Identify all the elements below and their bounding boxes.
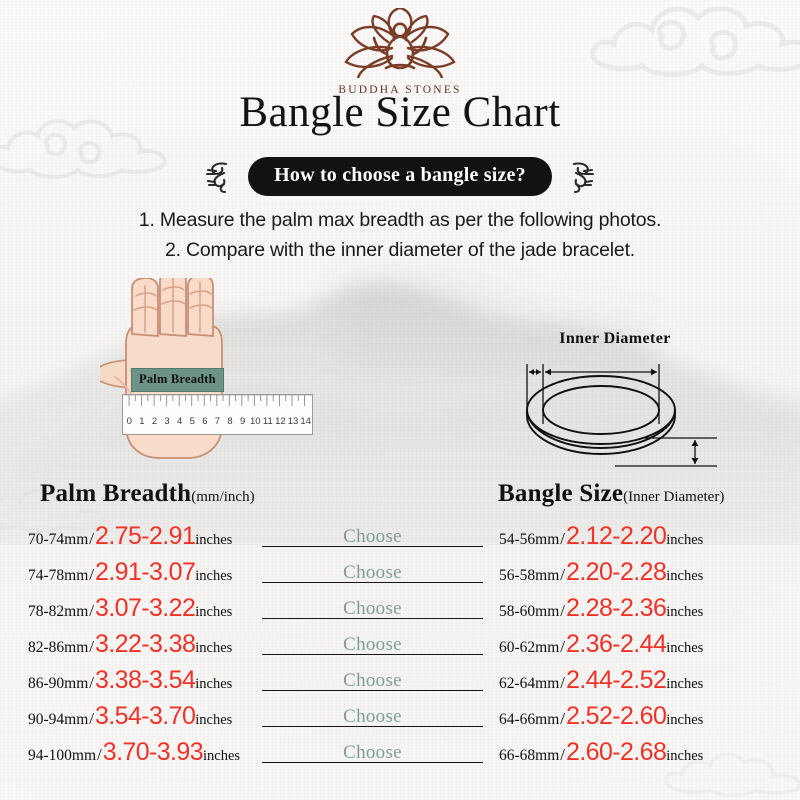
bangle-size-cell: 66-68mm/2.60-2.68inches — [495, 740, 800, 765]
table-row: 70-74mm/2.75-2.91inchesChoose54-56mm/2.1… — [0, 524, 800, 560]
choose-label[interactable]: Choose — [250, 598, 495, 620]
palm-unit-label: inches — [195, 640, 232, 657]
palm-mm-value: 86-90mm — [28, 675, 88, 693]
palm-inch-value: 3.07-3.22 — [95, 596, 195, 621]
bangle-size-cell: 56-58mm/2.20-2.28inches — [495, 560, 800, 585]
bangle-size-cell: 54-56mm/2.12-2.20inches — [495, 524, 800, 549]
bangle-size-cell: 60-62mm/2.36-2.44inches — [495, 632, 800, 657]
table-row: 82-86mm/3.22-3.38inchesChoose60-62mm/2.3… — [0, 632, 800, 668]
bangle-unit-label: inches — [666, 532, 703, 549]
palm-mm-value: 74-78mm — [28, 567, 88, 585]
table-row: 78-82mm/3.07-3.22inchesChoose58-60mm/2.2… — [0, 596, 800, 632]
bangle-size-chart-page: BUDDHA STONES Bangle Size Chart How to c… — [0, 0, 800, 800]
bangle-mm-value: 56-58mm — [499, 567, 559, 585]
ruler-number: 1 — [136, 416, 149, 427]
palm-mm-value: 82-86mm — [28, 639, 88, 657]
palm-inch-value: 3.70-3.93 — [103, 740, 203, 765]
palm-unit-label: inches — [195, 568, 232, 585]
separator-slash: / — [559, 709, 566, 729]
bangle-inch-value: 2.60-2.68 — [566, 740, 666, 765]
ruler-number: 10 — [249, 416, 262, 427]
palm-breadth-cell: 70-74mm/2.75-2.91inches — [0, 524, 250, 549]
choose-label[interactable]: Choose — [250, 706, 495, 728]
separator-slash: / — [559, 601, 566, 621]
choose-label[interactable]: Choose — [250, 526, 495, 548]
table-row: 90-94mm/3.54-3.70inchesChoose64-66mm/2.5… — [0, 704, 800, 740]
section-heading-palm-breadth: Palm Breadth(mm/inch) — [40, 480, 255, 508]
table-row: 74-78mm/2.91-3.07inchesChoose56-58mm/2.2… — [0, 560, 800, 596]
palm-breadth-cell: 78-82mm/3.07-3.22inches — [0, 596, 250, 621]
ruler-ticks-icon — [123, 395, 312, 411]
separator-slash: / — [88, 529, 95, 549]
separator-slash: / — [88, 709, 95, 729]
palm-inch-value: 2.75-2.91 — [95, 524, 195, 549]
palm-unit-label: inches — [195, 712, 232, 729]
section-heading-bangle-size: Bangle Size(Inner Diameter) — [498, 480, 724, 508]
choose-label[interactable]: Choose — [250, 562, 495, 584]
palm-inch-value: 2.91-3.07 — [95, 560, 195, 585]
palm-mm-value: 94-100mm — [28, 747, 96, 765]
separator-slash: / — [559, 637, 566, 657]
choose-label[interactable]: Choose — [250, 742, 495, 764]
subtitle-row: How to choose a bangle size? — [0, 157, 800, 196]
bangle-inch-value: 2.44-2.52 — [566, 668, 666, 693]
separator-slash: / — [96, 745, 103, 765]
separator-slash: / — [559, 529, 566, 549]
brand-logo: BUDDHA STONES — [0, 8, 800, 96]
separator-slash: / — [559, 673, 566, 693]
choose-underline — [262, 618, 483, 619]
palm-breadth-cell: 82-86mm/3.22-3.38inches — [0, 632, 250, 657]
palm-inch-value: 3.38-3.54 — [95, 668, 195, 693]
lotus-meditation-icon — [334, 8, 466, 83]
scroll-flourish-right-icon — [566, 159, 596, 195]
choose-label[interactable]: Choose — [250, 634, 495, 656]
inner-diameter-label: Inner Diameter — [505, 330, 725, 348]
bangle-mm-value: 64-66mm — [499, 711, 559, 729]
palm-inch-value: 3.54-3.70 — [95, 704, 195, 729]
palm-unit-label: inches — [195, 676, 232, 693]
bangle-inch-value: 2.52-2.60 — [566, 704, 666, 729]
bangle-unit-label: inches — [666, 712, 703, 729]
palm-unit-label: inches — [195, 532, 232, 549]
ruler-number: 14 — [299, 416, 312, 427]
separator-slash: / — [88, 601, 95, 621]
ruler-number: 7 — [211, 416, 224, 427]
section-title-bangle: Bangle Size — [498, 480, 623, 507]
ruler-numbers: 0 1 2 3 4 5 6 7 8 9 10 11 12 13 14 — [123, 410, 312, 433]
bangle-inch-value: 2.20-2.28 — [566, 560, 666, 585]
ruler-number: 2 — [148, 416, 161, 427]
bangle-inch-value: 2.36-2.44 — [566, 632, 666, 657]
bangle-unit-label: inches — [666, 568, 703, 585]
palm-breadth-cell: 90-94mm/3.54-3.70inches — [0, 704, 250, 729]
table-row: 94-100mm/3.70-3.93inchesChoose66-68mm/2.… — [0, 740, 800, 776]
choose-underline — [262, 762, 483, 763]
ruler-number: 12 — [274, 416, 287, 427]
bangle-unit-label: inches — [666, 604, 703, 621]
instruction-list: 1. Measure the palm max breadth as per t… — [0, 206, 800, 265]
ruler-number: 8 — [224, 416, 237, 427]
ruler-number: 9 — [236, 416, 249, 427]
separator-slash: / — [559, 745, 566, 765]
table-row: 86-90mm/3.38-3.54inchesChoose62-64mm/2.4… — [0, 668, 800, 704]
bangle-mm-value: 60-62mm — [499, 639, 559, 657]
section-note-palm: (mm/inch) — [191, 489, 254, 505]
ruler-number: 6 — [199, 416, 212, 427]
ruler-number: 13 — [287, 416, 300, 427]
bangle-unit-label: inches — [666, 748, 703, 765]
bangle-size-cell: 62-64mm/2.44-2.52inches — [495, 668, 800, 693]
bangle-ring-icon — [505, 354, 725, 474]
ruler-number: 3 — [161, 416, 174, 427]
ruler-number: 4 — [173, 416, 186, 427]
separator-slash: / — [88, 637, 95, 657]
subtitle-pill: How to choose a bangle size? — [248, 157, 552, 196]
choose-underline — [262, 582, 483, 583]
hand-measurement-diagram: Palm Breadth — [100, 278, 330, 468]
palm-breadth-label: Palm Breadth — [131, 368, 224, 392]
bangle-mm-value: 54-56mm — [499, 531, 559, 549]
bangle-unit-label: inches — [666, 640, 703, 657]
size-table: 70-74mm/2.75-2.91inchesChoose54-56mm/2.1… — [0, 524, 800, 776]
scroll-flourish-left-icon — [204, 159, 234, 195]
choose-underline — [262, 690, 483, 691]
choose-underline — [262, 546, 483, 547]
palm-mm-value: 70-74mm — [28, 531, 88, 549]
section-note-bangle: (Inner Diameter) — [623, 489, 724, 505]
choose-label[interactable]: Choose — [250, 670, 495, 692]
ruler-number: 11 — [262, 416, 275, 427]
bangle-mm-value: 66-68mm — [499, 747, 559, 765]
separator-slash: / — [88, 673, 95, 693]
separator-slash: / — [559, 565, 566, 585]
ruler-graphic: 0 1 2 3 4 5 6 7 8 9 10 11 12 13 14 — [122, 394, 313, 435]
separator-slash: / — [88, 565, 95, 585]
page-title: Bangle Size Chart — [0, 88, 800, 137]
palm-breadth-cell: 94-100mm/3.70-3.93inches — [0, 740, 250, 765]
bangle-mm-value: 58-60mm — [499, 603, 559, 621]
section-title-palm: Palm Breadth — [40, 480, 191, 507]
bangle-inner-diameter-diagram: Inner Diameter — [505, 330, 725, 470]
ruler-number: 5 — [186, 416, 199, 427]
choose-underline — [262, 654, 483, 655]
palm-breadth-cell: 86-90mm/3.38-3.54inches — [0, 668, 250, 693]
instruction-item-1: 1. Measure the palm max breadth as per t… — [0, 206, 800, 236]
ruler-number: 0 — [123, 416, 136, 427]
palm-mm-value: 90-94mm — [28, 711, 88, 729]
bangle-inch-value: 2.12-2.20 — [566, 524, 666, 549]
bangle-size-cell: 64-66mm/2.52-2.60inches — [495, 704, 800, 729]
palm-unit-label: inches — [203, 748, 240, 765]
bangle-size-cell: 58-60mm/2.28-2.36inches — [495, 596, 800, 621]
palm-unit-label: inches — [195, 604, 232, 621]
bangle-inch-value: 2.28-2.36 — [566, 596, 666, 621]
palm-breadth-cell: 74-78mm/2.91-3.07inches — [0, 560, 250, 585]
palm-inch-value: 3.22-3.38 — [95, 632, 195, 657]
instruction-item-2: 2. Compare with the inner diameter of th… — [0, 236, 800, 266]
bangle-mm-value: 62-64mm — [499, 675, 559, 693]
palm-mm-value: 78-82mm — [28, 603, 88, 621]
choose-underline — [262, 726, 483, 727]
bangle-unit-label: inches — [666, 676, 703, 693]
